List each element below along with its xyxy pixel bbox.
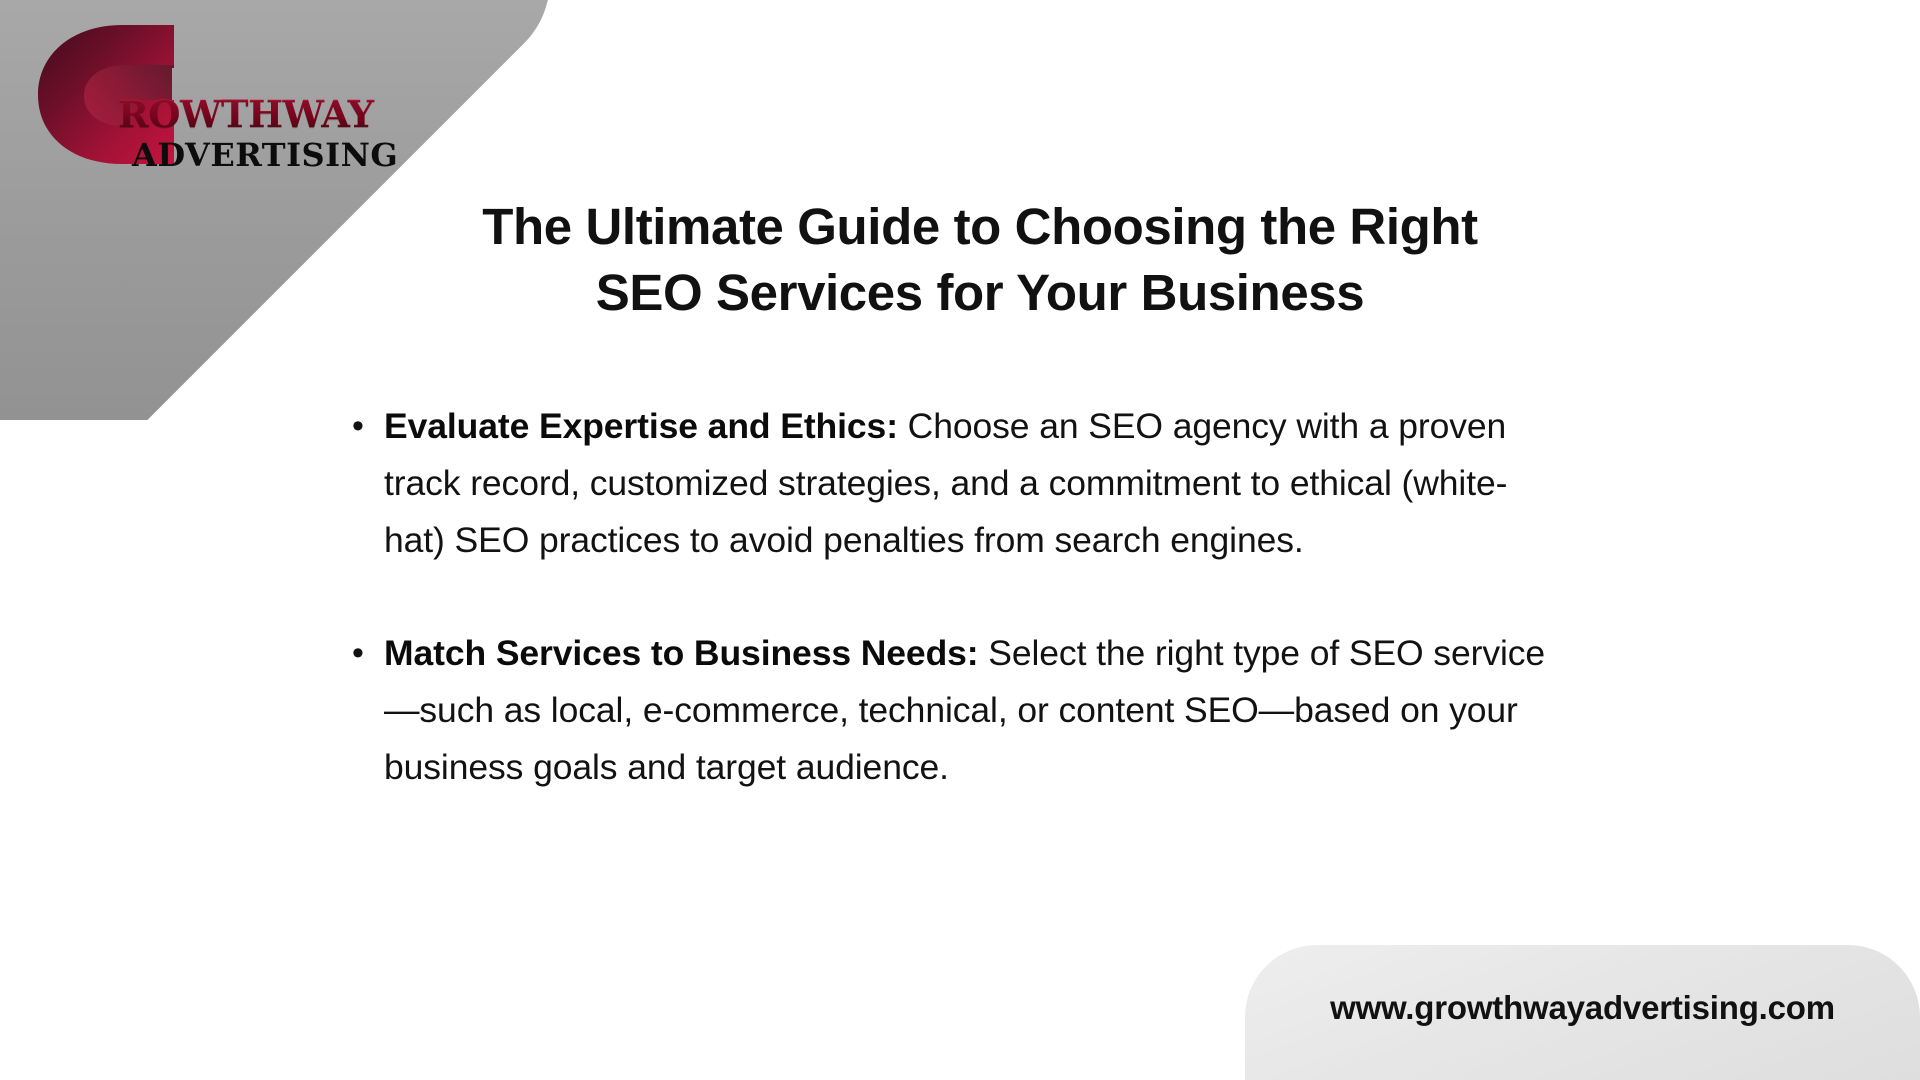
bullet-marker-icon: • <box>352 398 384 455</box>
title-line-2: SEO Services for Your Business <box>480 260 1480 326</box>
list-item: • Evaluate Expertise and Ethics: Choose … <box>352 398 1552 569</box>
logo-wordmark: ROWTHWAY ADVERTISING <box>118 96 418 171</box>
list-item: • Match Services to Business Needs: Sele… <box>352 625 1552 796</box>
title-line-1: The Ultimate Guide to Choosing the Right <box>480 194 1480 260</box>
footer-url-pill: www.growthwayadvertising.com <box>1245 945 1920 1080</box>
bullet-marker-icon: • <box>352 625 384 682</box>
website-url[interactable]: www.growthwayadvertising.com <box>1330 989 1835 1027</box>
list-item-text: Match Services to Business Needs: Select… <box>384 625 1552 796</box>
list-item-lead: Match Services to Business Needs: <box>384 633 979 673</box>
page-title: The Ultimate Guide to Choosing the Right… <box>480 194 1480 327</box>
brand-logo: ROWTHWAY ADVERTISING <box>22 18 442 178</box>
list-item-text: Evaluate Expertise and Ethics: Choose an… <box>384 398 1552 569</box>
key-points-list: • Evaluate Expertise and Ethics: Choose … <box>352 398 1552 796</box>
logo-name-line2: ADVERTISING <box>132 139 418 171</box>
logo-name-line1: ROWTHWAY <box>118 96 418 133</box>
list-item-lead: Evaluate Expertise and Ethics: <box>384 406 898 446</box>
